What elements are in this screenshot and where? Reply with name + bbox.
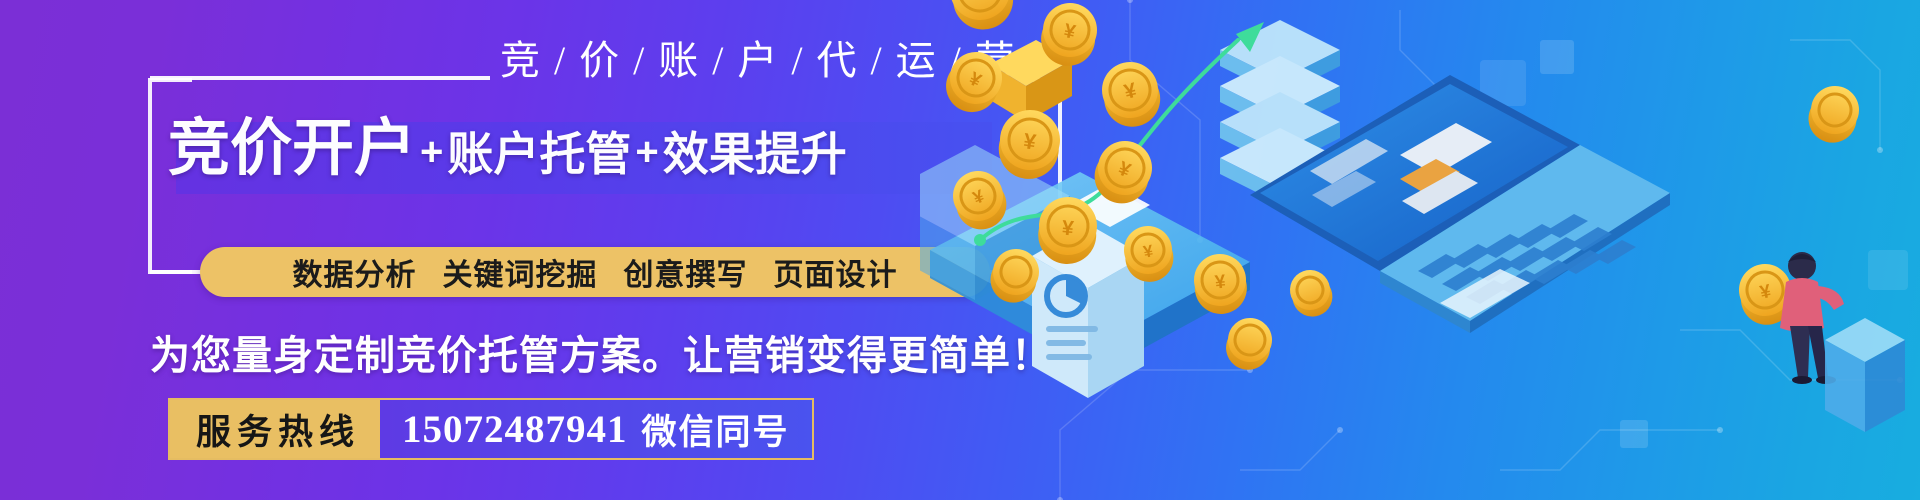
headline-plus-2: + <box>631 132 662 172</box>
hero-illustration: ¥ ¥ ¥ ¥ <box>920 0 1920 500</box>
keyword-item: 数据分析 <box>293 250 417 294</box>
rule-top <box>150 76 490 80</box>
headline-part-1: 竞价开户 <box>168 118 416 180</box>
keyword-item: 创意撰写 <box>624 250 748 294</box>
banner-copy-block: 竞 / 价 / 账 / 户 / 代 / 运 / 营 竞价开户 + 账户托管 + … <box>0 0 1070 500</box>
office-buildings-icon <box>1825 318 1905 432</box>
subtitle-text: 为您量身定制竞价托管方案。让营销变得更简单！ <box>150 323 1052 381</box>
keyword-item: 关键词挖掘 <box>443 250 598 294</box>
keyword-item: 页面设计 <box>774 250 898 294</box>
hotline-label: 服务热线 <box>170 400 380 458</box>
hotline-bar: 服务热线 15072487941 微信同号 <box>168 398 814 460</box>
service-keywords-pill: 数据分析 关键词挖掘 创意撰写 页面设计 <box>200 247 990 297</box>
headline-part-2: 账户托管 <box>447 131 631 177</box>
coin-icon <box>1803 80 1865 148</box>
headline-plus-1: + <box>416 132 447 172</box>
svg-text:¥: ¥ <box>1061 217 1075 241</box>
hotline-number-block: 15072487941 微信同号 <box>380 400 812 458</box>
hotline-phone-number[interactable]: 15072487941 <box>402 407 628 452</box>
hotline-wechat-note: 微信同号 <box>628 404 790 455</box>
promo-banner: 竞 / 价 / 账 / 户 / 代 / 运 / 营 竞价开户 + 账户托管 + … <box>0 0 1920 500</box>
page-title: 竞价开户 + 账户托管 + 效果提升 <box>168 103 1028 195</box>
headline-part-3: 效果提升 <box>663 131 847 177</box>
